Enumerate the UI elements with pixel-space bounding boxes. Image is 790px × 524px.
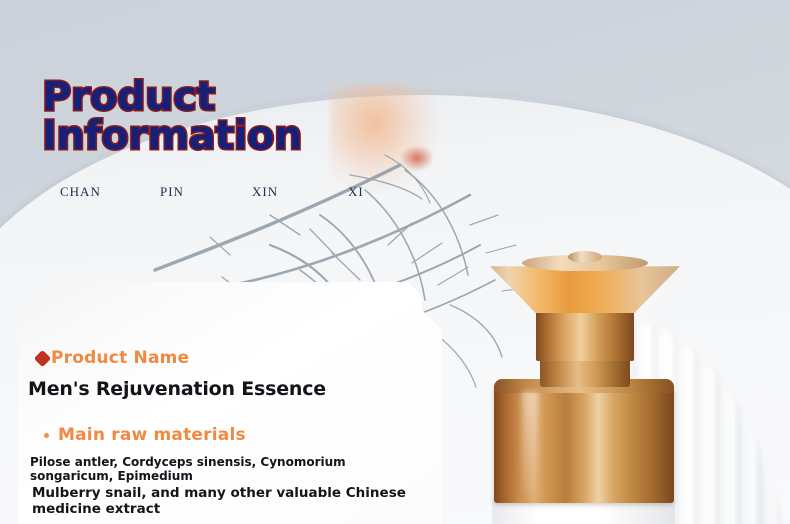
page-subtitle: CHAN PIN XIN XI bbox=[60, 184, 420, 200]
page-subtitle-part-1: CHAN bbox=[60, 184, 160, 200]
product-information-banner: Product Information CHAN PIN XIN XI Prod… bbox=[0, 0, 790, 524]
gold-bottle-image bbox=[470, 245, 700, 524]
bottle-cap-knob bbox=[568, 251, 602, 263]
red-diamond-bullet-icon bbox=[34, 349, 51, 366]
product-name-label: Product Name bbox=[51, 348, 189, 368]
bottle-neck-ring bbox=[540, 357, 630, 387]
page-subtitle-part-4: XI bbox=[348, 184, 364, 200]
product-name-value: Men's Rejuvenation Essence bbox=[28, 378, 326, 400]
bottle-body bbox=[494, 385, 674, 503]
page-title-line1: Product bbox=[42, 78, 302, 117]
materials-line-1: Pilose antler, Cordyceps sinensis, Cynom… bbox=[30, 455, 420, 483]
page-subtitle-part-2: PIN bbox=[160, 184, 252, 200]
bottle-highlight bbox=[522, 391, 538, 495]
materials-label: Main raw materials bbox=[58, 425, 246, 445]
orange-dot-bullet-icon bbox=[44, 433, 49, 438]
page-subtitle-part-3: XIN bbox=[252, 184, 348, 200]
materials-line-2: Mulberry snail, and many other valuable … bbox=[32, 485, 432, 517]
materials-heading: Main raw materials bbox=[44, 425, 246, 445]
product-name-heading: Product Name bbox=[36, 348, 189, 368]
page-title-line2: Information bbox=[42, 117, 302, 156]
page-title: Product Information bbox=[42, 78, 302, 156]
